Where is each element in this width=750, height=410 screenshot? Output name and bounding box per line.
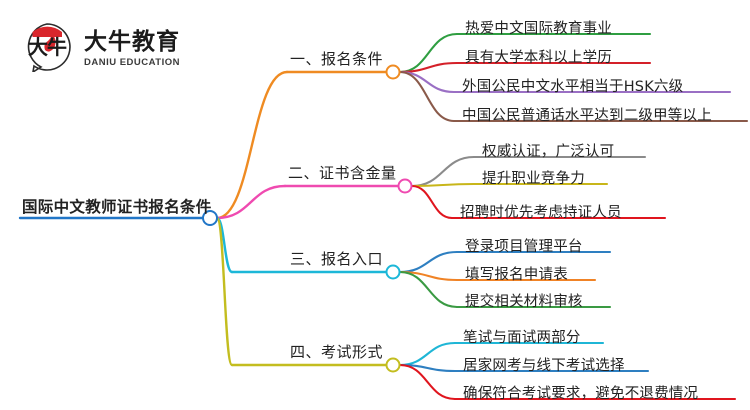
leaf-label-1-3[interactable]: 外国公民中文水平相当于HSK六级 — [462, 80, 683, 95]
root-node-label[interactable]: 国际中文教师证书报名条件 — [22, 200, 212, 216]
leaf-label-2-2[interactable]: 提升职业竞争力 — [482, 172, 585, 187]
leaf-label-3-1[interactable]: 登录项目管理平台 — [465, 240, 583, 255]
leaf-label-2-1[interactable]: 权威认证，广泛认可 — [482, 145, 614, 160]
leaf-label-1-4[interactable]: 中国公民普通话水平达到二级甲等以上 — [462, 109, 712, 124]
leaf-label-3-2[interactable]: 填写报名申请表 — [465, 268, 568, 283]
leaf-label-4-2[interactable]: 居家网考与线下考试选择 — [463, 359, 625, 374]
branch-label-2[interactable]: 二、证书含金量 — [288, 166, 397, 181]
leaf-label-1-2[interactable]: 具有大学本科以上学历 — [465, 51, 612, 66]
leaf-label-4-1[interactable]: 笔试与面试两部分 — [463, 331, 581, 346]
leaf-label-3-3[interactable]: 提交相关材料审核 — [465, 295, 583, 310]
branch-label-3[interactable]: 三、报名入口 — [290, 252, 383, 267]
mindmap-labels: 国际中文教师证书报名条件一、报名条件热爱中文国际教育事业具有大学本科以上学历外国… — [0, 0, 750, 410]
branch-label-1[interactable]: 一、报名条件 — [290, 52, 383, 67]
leaf-label-2-3[interactable]: 招聘时优先考虑持证人员 — [460, 206, 622, 221]
leaf-label-1-1[interactable]: 热爱中文国际教育事业 — [465, 22, 612, 37]
branch-label-4[interactable]: 四、考试形式 — [290, 345, 383, 360]
leaf-label-4-3[interactable]: 确保符合考试要求，避免不退费情况 — [463, 387, 698, 402]
